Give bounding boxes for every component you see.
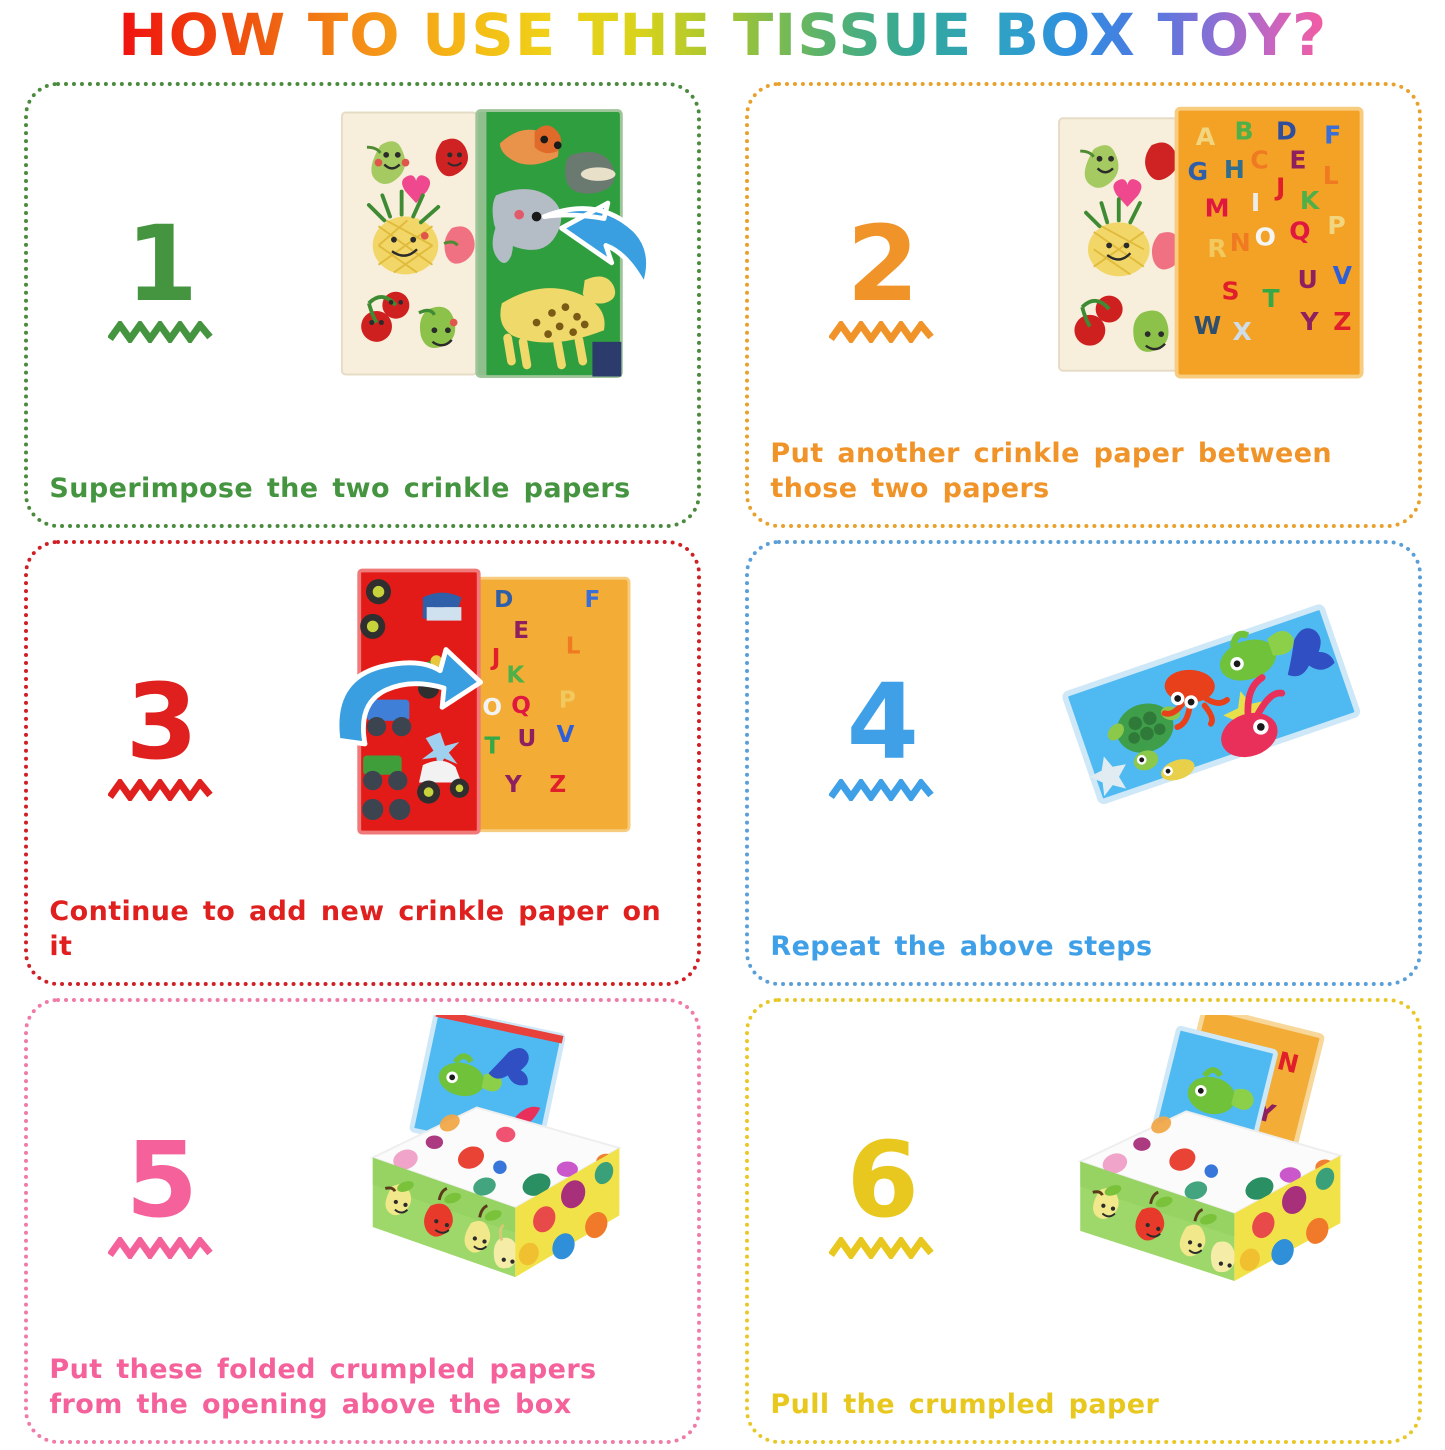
alphabet-crinkle-paper: A B D F G H C E J L M I	[1177, 109, 1362, 377]
svg-text:D: D	[1276, 117, 1297, 146]
vehicle-and-alphabet-crinkle-papers-illustration: D F E J L K O Q P T U V	[302, 557, 677, 846]
svg-text:L: L	[1323, 161, 1339, 190]
page-title-bar: HOW TO USE THE TISSUE BOX TOY?	[0, 0, 1445, 70]
zigzag-underline-4	[829, 779, 937, 801]
svg-text:Z: Z	[550, 772, 567, 798]
svg-text:F: F	[1324, 120, 1341, 149]
step-card-5: 5	[24, 998, 701, 1444]
step-number-1: 1	[61, 217, 262, 313]
ocean-crinkle-paper-illustration	[1023, 557, 1398, 846]
vehicle-crinkle-paper	[360, 571, 479, 833]
svg-text:I: I	[1251, 188, 1260, 217]
step-caption-3: Continue to add new crinkle paper on it	[49, 895, 678, 964]
svg-text:E: E	[1290, 146, 1307, 175]
fruit-crinkle-paper	[1059, 118, 1184, 370]
svg-text:K: K	[1300, 186, 1321, 215]
svg-text:Z: Z	[1334, 307, 1352, 336]
step-number-block-1: 1	[61, 217, 262, 343]
step-photo-3: D F E J L K O Q P T U V	[302, 557, 677, 846]
step-number-block-5: 5	[61, 1133, 262, 1259]
svg-text:X: X	[1233, 317, 1252, 346]
zigzag-underline-6	[829, 1237, 937, 1259]
svg-text:R: R	[1208, 234, 1227, 263]
step-number-3: 3	[61, 675, 262, 771]
step-card-6: 6 U N Y	[745, 998, 1422, 1444]
infographic-page: HOW TO USE THE TISSUE BOX TOY? 1	[0, 0, 1445, 1450]
svg-text:L: L	[566, 633, 581, 659]
svg-text:N: N	[1230, 228, 1251, 257]
svg-text:D: D	[494, 587, 513, 613]
step-number-block-6: 6	[782, 1133, 983, 1259]
svg-text:Y: Y	[1300, 307, 1320, 336]
alphabet-crinkle-paper: D F E J L K O Q P T U V	[475, 578, 629, 830]
step-photo-1	[302, 99, 677, 388]
svg-text:M: M	[1205, 194, 1230, 223]
svg-text:A: A	[1196, 122, 1216, 151]
svg-text:C: C	[1251, 146, 1269, 175]
svg-text:Y: Y	[504, 772, 522, 798]
step-number-6: 6	[782, 1133, 983, 1229]
step-card-4: 4	[745, 540, 1422, 986]
svg-text:Q: Q	[512, 693, 532, 719]
step-photo-4	[1023, 557, 1398, 846]
svg-text:H: H	[1224, 155, 1245, 184]
svg-text:U: U	[518, 726, 537, 752]
svg-text:J: J	[1274, 172, 1285, 201]
svg-text:T: T	[485, 734, 501, 760]
step-photo-2: A B D F G H C E J L M I	[1023, 99, 1398, 388]
svg-text:V: V	[557, 722, 575, 748]
step-number-2: 2	[782, 217, 983, 313]
page-title: HOW TO USE THE TISSUE BOX TOY?	[118, 1, 1327, 69]
svg-text:E: E	[514, 618, 530, 644]
tissue-box-pull-illustration: U N Y	[1023, 1015, 1398, 1304]
svg-text:F: F	[585, 587, 601, 613]
step-caption-4: Repeat the above steps	[770, 930, 1399, 965]
svg-text:V: V	[1333, 261, 1353, 290]
step-number-5: 5	[61, 1133, 262, 1229]
svg-text:P: P	[1328, 211, 1346, 240]
step-number-block-4: 4	[782, 675, 983, 801]
fruit-and-animal-crinkle-papers-illustration	[302, 99, 677, 388]
step-number-block-2: 2	[782, 217, 983, 343]
svg-text:Q: Q	[1290, 217, 1311, 246]
ocean-crinkle-paper	[1062, 606, 1361, 808]
fruit-crinkle-paper	[342, 113, 477, 375]
svg-text:G: G	[1188, 157, 1209, 186]
svg-text:O: O	[1255, 223, 1276, 252]
svg-text:J: J	[490, 645, 501, 671]
step-card-1: 1	[24, 82, 701, 528]
zigzag-underline-3	[108, 779, 216, 801]
step-caption-2: Put another crinkle paper between those …	[770, 437, 1399, 506]
zigzag-underline-5	[108, 1237, 216, 1259]
step-card-3: 3 D F E J	[24, 540, 701, 986]
svg-text:S: S	[1222, 277, 1240, 306]
step-caption-6: Pull the crumpled paper	[770, 1388, 1399, 1423]
zigzag-underline-2	[829, 321, 937, 343]
step-photo-6: U N Y	[1023, 1015, 1398, 1304]
step-number-block-3: 3	[61, 675, 262, 801]
step-photo-5	[302, 1015, 677, 1304]
zigzag-underline-1	[108, 321, 216, 343]
svg-text:B: B	[1235, 117, 1254, 146]
svg-text:U: U	[1298, 265, 1318, 294]
svg-text:K: K	[507, 662, 526, 688]
step-caption-1: Superimpose the two crinkle papers	[49, 472, 678, 507]
svg-text:O: O	[483, 695, 503, 721]
fruit-and-alphabet-crinkle-papers-illustration: A B D F G H C E J L M I	[1023, 99, 1398, 388]
svg-text:P: P	[559, 687, 576, 713]
svg-text:T: T	[1263, 284, 1280, 313]
tissue-box-with-paper-illustration	[302, 1015, 677, 1304]
steps-grid: 1	[24, 82, 1422, 1444]
svg-text:W: W	[1194, 311, 1222, 340]
step-caption-5: Put these folded crumpled papers from th…	[49, 1353, 678, 1422]
step-card-2: 2	[745, 82, 1422, 528]
step-number-4: 4	[782, 675, 983, 771]
